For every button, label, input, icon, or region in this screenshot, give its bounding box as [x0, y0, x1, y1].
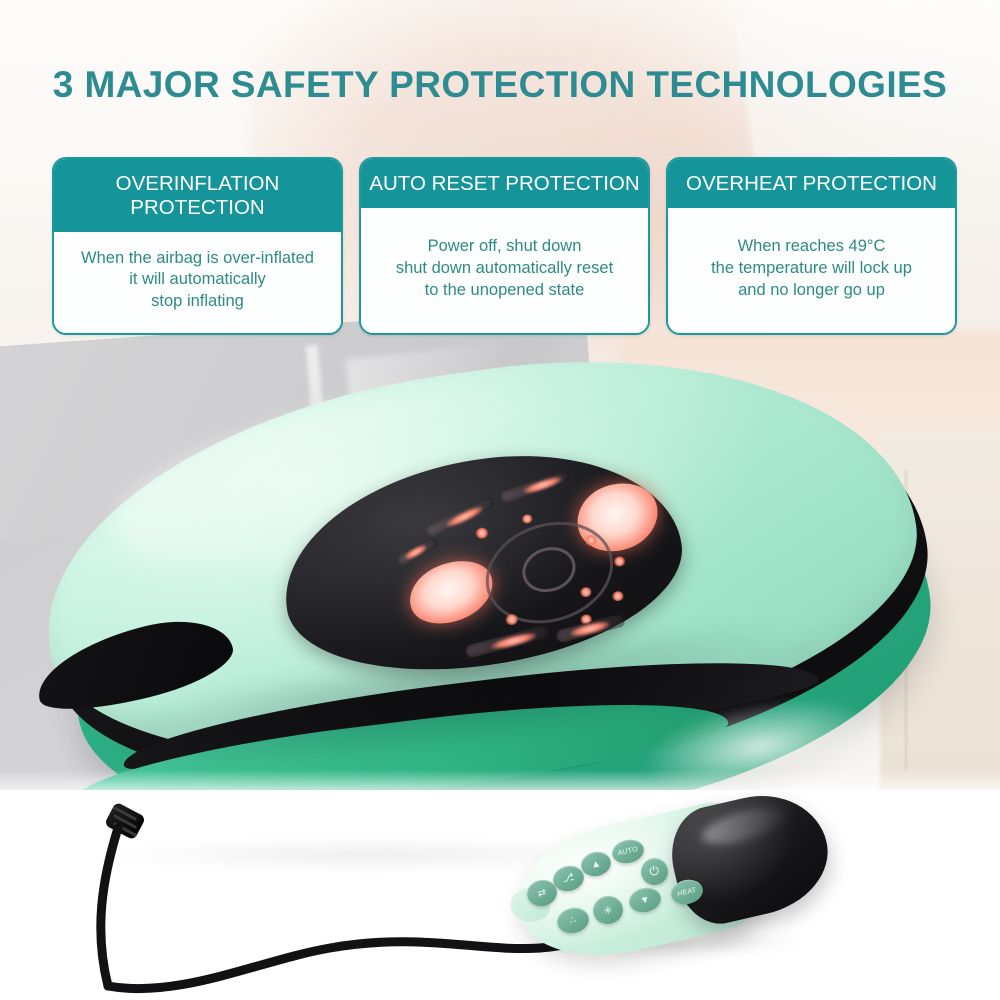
power-cable: [0, 0, 1000, 1000]
remote-control: AUTO ▲ ⏻ HEAT ▼ ✳ ⎇ ⇄ ∴: [505, 792, 835, 967]
product-infographic: 3 MAJOR SAFETY PROTECTION TECHNOLOGIES O…: [0, 0, 1000, 1000]
